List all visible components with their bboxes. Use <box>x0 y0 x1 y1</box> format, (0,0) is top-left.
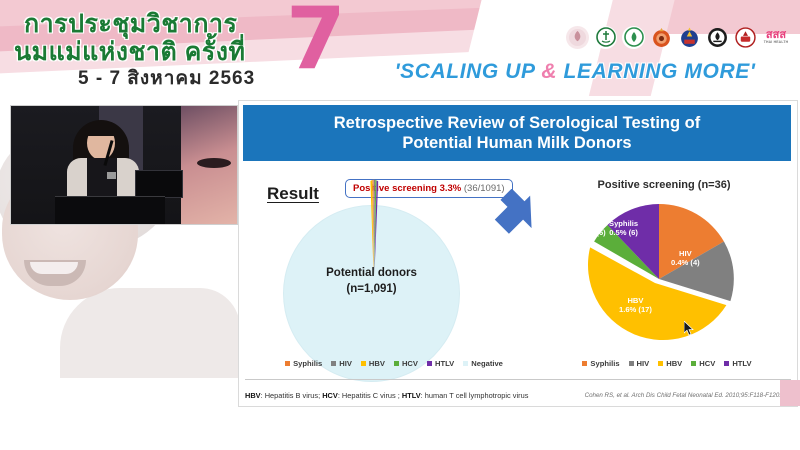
legend-swatch-syphilis <box>285 361 290 366</box>
slide-footnote-row: HBV: Hepatitis B virus; HCV: Hepatitis C… <box>245 379 791 407</box>
legend-swatch-htlv-2 <box>724 361 729 366</box>
logo-blue-yellow-seal <box>678 26 701 49</box>
legend-label-hcv-2: HCV <box>699 359 715 368</box>
slice-label-syphilis: Syphilis 0.5% (6) <box>609 219 638 238</box>
sss-sublabel: THAI HEALTH <box>764 41 789 44</box>
legend-swatch-hcv <box>394 361 399 366</box>
footnote-def-hbv: : Hepatitis B virus; <box>261 391 323 400</box>
legend-item-hiv: HIV <box>331 359 352 368</box>
slice-label-htlv: HTLV 0.5% (6) <box>577 219 606 238</box>
mouse-cursor <box>684 321 695 336</box>
slice-label-hcv: HCV 0.3% (3) <box>549 251 578 270</box>
legend-item-hbv-2: HBV <box>658 359 682 368</box>
legend-swatch-hiv <box>331 361 336 366</box>
legend-label-htlv-2: HTLV <box>732 359 751 368</box>
source-citation: Cohen RS, et al. Arch Dis Child Fetal Ne… <box>585 392 781 399</box>
slice-label-hcv-value: 0.3% (3) <box>549 260 578 269</box>
podium <box>55 196 165 225</box>
speaker-slide-baby-eye <box>197 158 231 168</box>
slice-label-hcv-name: HCV <box>549 251 578 260</box>
legend-swatch-syphilis-2 <box>582 361 587 366</box>
blue-arrow-icon <box>491 189 541 239</box>
sponsor-logo-row: สสสTHAI HEALTH <box>566 22 796 52</box>
legend-label-hbv: HBV <box>369 359 385 368</box>
legend-item-htlv: HTLV <box>427 359 454 368</box>
legend-item-syphilis: Syphilis <box>285 359 322 368</box>
tagline-part2: LEARNING MORE' <box>557 60 755 83</box>
logo-royal-emblem <box>566 26 589 49</box>
legend-swatch-htlv <box>427 361 432 366</box>
sss-label: สสส <box>766 29 786 41</box>
presentation-screenshot: การประชุมวิชาการ นมแม่แห่งชาติ ครั้งที่ … <box>0 0 800 450</box>
potential-donors-count: (n=1,091) <box>284 282 459 298</box>
footnote-term-hcv: HCV <box>322 391 338 400</box>
legend-item-htlv-2: HTLV <box>724 359 751 368</box>
legend-label-hiv: HIV <box>339 359 352 368</box>
slide-title-line1: Retrospective Review of Serological Test… <box>334 113 700 133</box>
legend-swatch-negative <box>463 361 468 366</box>
legend-item-hcv-2: HCV <box>691 359 715 368</box>
slice-label-hiv-name: HIV <box>671 249 700 258</box>
slide-title-bar: Retrospective Review of Serological Test… <box>243 105 791 161</box>
logo-medical-green-2 <box>622 26 645 49</box>
logo-thaihealth-sss: สสสTHAI HEALTH <box>762 26 790 49</box>
right-edge-pink-strip <box>780 380 800 406</box>
slice-label-hiv-value: 0.4% (4) <box>671 258 700 267</box>
logo-black-seal <box>706 26 729 49</box>
legend-label-htlv: HTLV <box>435 359 454 368</box>
tagline-ampersand: & <box>541 60 557 83</box>
legend-label-syphilis-2: Syphilis <box>590 359 619 368</box>
conference-date-thai: 5 - 7 สิงหาคม 2563 <box>78 63 255 93</box>
slice-label-hbv-name: HBV <box>619 296 652 305</box>
slice-label-syphilis-value: 0.5% (6) <box>609 228 638 237</box>
legend-item-hcv: HCV <box>394 359 418 368</box>
presentation-slide: Retrospective Review of Serological Test… <box>238 100 798 407</box>
abbreviation-footnote: HBV: Hepatitis B virus; HCV: Hepatitis C… <box>245 391 528 400</box>
footnote-def-htlv: : human T cell lymphotropic virus <box>421 391 529 400</box>
legend-swatch-hiv-2 <box>629 361 634 366</box>
legend-left-pie: Syphilis HIV HBV HCV HTLV Negative <box>269 359 519 368</box>
speaker-hair-front <box>85 122 117 136</box>
conference-edition-number: 7 <box>286 0 346 82</box>
footnote-term-htlv: HTLV <box>402 391 421 400</box>
legend-swatch-hcv-2 <box>691 361 696 366</box>
slice-label-htlv-name: HTLV <box>577 219 606 228</box>
speaker-name-badge <box>107 172 116 179</box>
legend-item-negative: Negative <box>463 359 503 368</box>
potential-donors-label: Potential donors (n=1,091) <box>284 266 459 297</box>
laptop-icon <box>135 170 183 198</box>
slide-title-line2: Potential Human Milk Donors <box>402 133 631 153</box>
legend-swatch-hbv-2 <box>658 361 663 366</box>
conference-header-banner: การประชุมวิชาการ นมแม่แห่งชาติ ครั้งที่ … <box>0 0 800 96</box>
logo-red-seal <box>734 26 757 49</box>
slice-label-htlv-value: 0.5% (6) <box>577 228 606 237</box>
speaker-video-panel[interactable] <box>10 105 238 225</box>
slice-label-hbv: HBV 1.6% (17) <box>619 296 652 315</box>
legend-item-hiv-2: HIV <box>629 359 650 368</box>
legend-item-hbv: HBV <box>361 359 385 368</box>
slice-label-hiv: HIV 0.4% (4) <box>671 249 700 268</box>
legend-label-syphilis: Syphilis <box>293 359 322 368</box>
watermark-teeth <box>30 262 78 274</box>
legend-label-hcv: HCV <box>402 359 418 368</box>
positive-screening-chart-title: Positive screening (n=36) <box>539 179 789 191</box>
legend-label-hbv-2: HBV <box>666 359 682 368</box>
slice-label-hbv-value: 1.6% (17) <box>619 305 652 314</box>
conference-tagline: 'SCALING UP & LEARNING MORE' <box>360 60 790 84</box>
legend-label-negative: Negative <box>471 359 503 368</box>
footnote-def-hcv: : Hepatitis C virus ; <box>338 391 402 400</box>
tagline-part1: 'SCALING UP <box>395 60 542 83</box>
footnote-term-hbv: HBV <box>245 391 261 400</box>
pie-exploded-positive-wedge <box>367 179 381 275</box>
logo-medical-green-1 <box>594 26 617 49</box>
watermark-body <box>60 288 238 378</box>
legend-right-pie: Syphilis HIV HBV HCV HTLV <box>557 359 777 368</box>
logo-orange-seal <box>650 26 673 49</box>
result-heading: Result <box>267 184 319 204</box>
legend-item-syphilis-2: Syphilis <box>582 359 619 368</box>
potential-donors-text: Potential donors <box>284 266 459 282</box>
legend-label-hiv-2: HIV <box>637 359 650 368</box>
legend-swatch-hbv <box>361 361 366 366</box>
slice-label-syphilis-name: Syphilis <box>609 219 638 228</box>
